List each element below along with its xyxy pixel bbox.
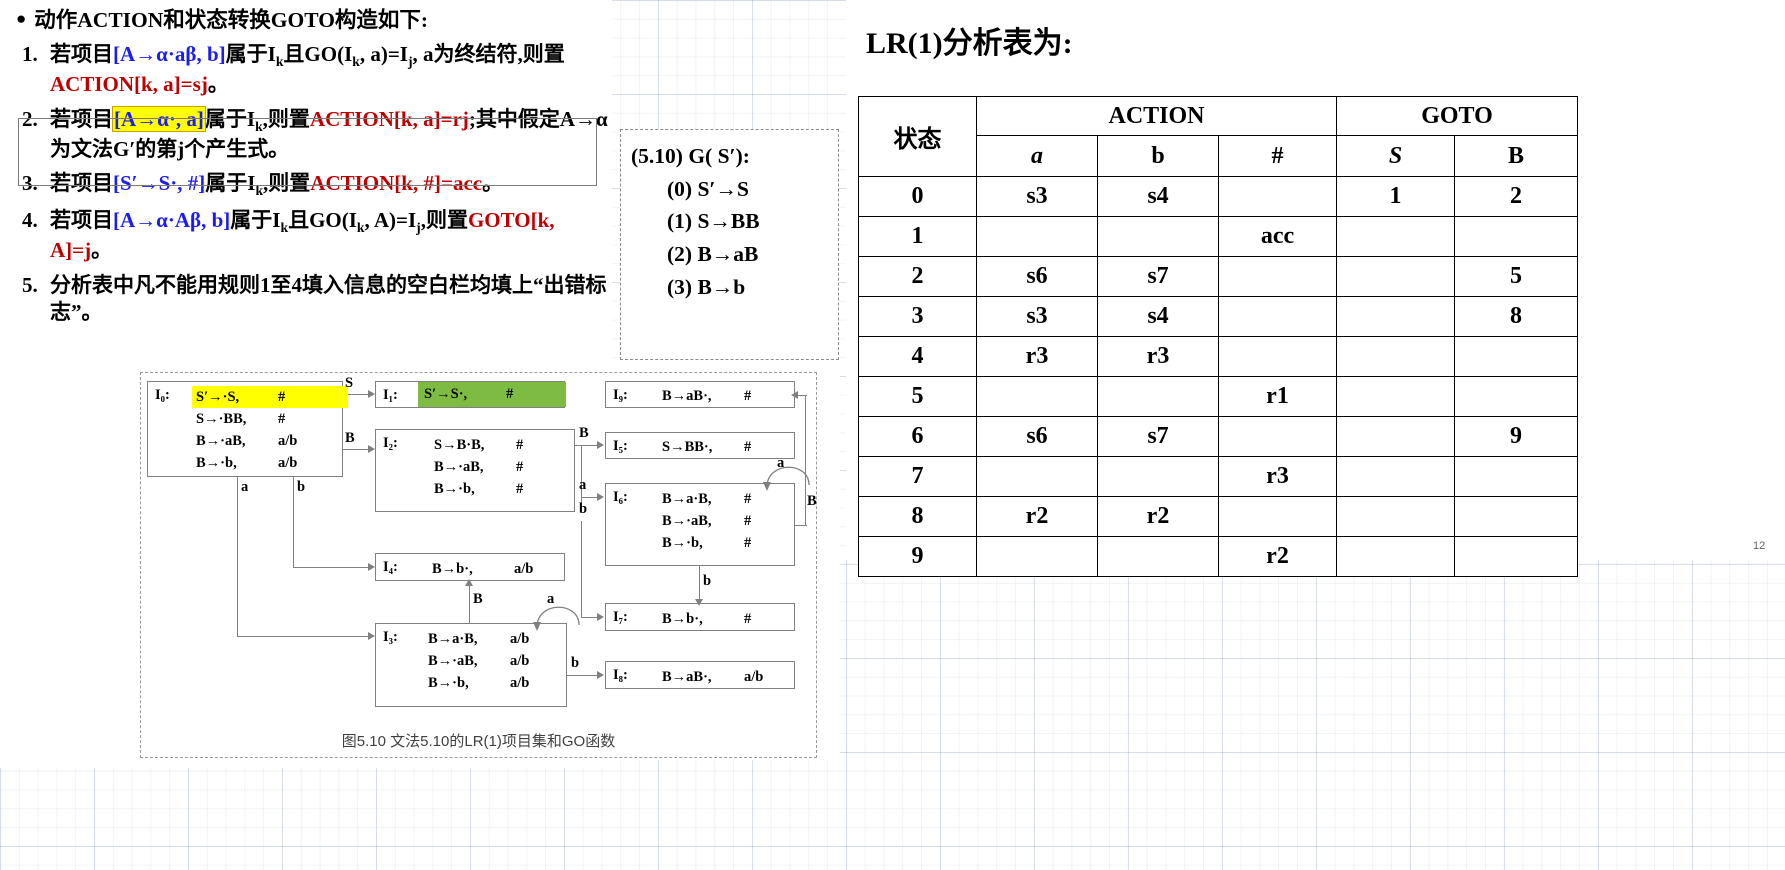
item-production: B→a·B,: [428, 628, 510, 650]
rule-text-fragment: 且GO(I: [283, 42, 352, 66]
cell-goto-B: [1455, 497, 1578, 537]
cell-action-a: s6: [977, 417, 1098, 457]
rule-text-fragment: , A)=I: [365, 208, 417, 232]
edge-line: [699, 566, 700, 603]
item-production: B→·b,: [434, 478, 516, 500]
item-production: B→aB·,: [662, 666, 744, 688]
item-production: B→·b,: [662, 532, 744, 554]
itemset-I5: I₅: S→BB·, #: [605, 432, 795, 459]
lr1-table-title: LR(1)分析表为:: [866, 18, 1073, 62]
cell-state: 1: [859, 217, 977, 257]
cell-action-hash: [1219, 177, 1337, 217]
table-row: 5r1: [859, 377, 1578, 417]
cell-action-hash: [1219, 337, 1337, 377]
edge-label-B-I6-I9: B: [807, 493, 817, 510]
cell-action-a: r3: [977, 337, 1098, 377]
item-lookahead: #: [278, 386, 320, 408]
header-action-group: ACTION: [977, 97, 1337, 136]
rule-text-fragment: [A→α·aβ, b]: [113, 42, 226, 66]
cell-goto-S: [1337, 377, 1455, 417]
header-goto-S: S: [1337, 136, 1455, 177]
rule-item-5: 5.分析表中凡不能用规则1至4填入信息的空白栏均填上“出错标志”。: [14, 272, 614, 327]
itemset-I9-rows: B→aB·, #: [662, 382, 794, 407]
table-row: 0s3s412: [859, 177, 1578, 217]
rule-number: 5.: [22, 272, 38, 300]
rule-text-fragment: 且GO(I: [288, 208, 357, 232]
cell-action-hash: [1219, 257, 1337, 297]
itemset-I1-label: I₁:: [383, 387, 398, 404]
lr1-parsing-table-wrapper: 状态 ACTION GOTO a b # S B 0s3s4121acc2s6s…: [858, 96, 1578, 577]
edge-label-b-I3-I4: B: [473, 591, 483, 608]
edge-arrow: [695, 599, 703, 606]
lr1-itemset-diagram: I₀: S′→·S, # S→·BB, # B→·aB, a/b B→·b, a…: [140, 372, 817, 758]
cell-goto-B: 5: [1455, 257, 1578, 297]
cell-goto-S: [1337, 457, 1455, 497]
cell-action-hash: [1219, 497, 1337, 537]
edge-label-a-I6-I6: a: [777, 455, 784, 472]
cell-action-b: s7: [1098, 417, 1219, 457]
itemset-I4: I₄: B→b·, a/b: [375, 553, 565, 581]
itemset-I5-label: I₅:: [613, 438, 628, 455]
edge-arrow: [368, 632, 375, 640]
cell-action-b: [1098, 537, 1219, 577]
cell-goto-S: [1337, 417, 1455, 457]
cell-state: 2: [859, 257, 977, 297]
itemset-I7: I₇: B→b·, #: [605, 603, 795, 631]
item-production: B→b·,: [432, 558, 514, 580]
itemset-I8-rows: B→aB·, a/b: [662, 662, 794, 688]
itemset-I2-label: I₂:: [383, 435, 398, 452]
item-row: B→·b, #: [662, 532, 794, 554]
cell-action-b: s7: [1098, 257, 1219, 297]
itemset-I6-label: I₆:: [613, 489, 628, 506]
edge-line: [469, 585, 470, 623]
cell-action-a: [977, 457, 1098, 497]
grammar-production-1: (1) S→BB: [621, 205, 838, 238]
edge-label-a-I2-I6: a: [579, 477, 586, 494]
rule-2-highlight-box: [18, 118, 597, 186]
lead-bullet: ● 动作ACTION和状态转换GOTO构造如下:: [14, 6, 614, 35]
cell-action-a: [977, 217, 1098, 257]
edge-arrow: [368, 390, 375, 398]
rule-text-fragment: ,则置: [421, 208, 468, 232]
item-lookahead: #: [744, 385, 786, 407]
bullet-dot-icon: ●: [16, 6, 26, 32]
item-production: B→b·,: [662, 608, 744, 630]
item-lookahead: #: [516, 456, 558, 478]
item-row: B→·aB, #: [662, 510, 794, 532]
header-goto-B: B: [1455, 136, 1578, 177]
edge-arrow: [368, 445, 375, 453]
grammar-production-3: (3) B→b: [621, 271, 838, 304]
cell-action-hash: r3: [1219, 457, 1337, 497]
rule-text-fragment: k: [280, 220, 288, 235]
edge-arrow: [597, 441, 604, 449]
item-row: S→B·B, #: [434, 434, 574, 456]
grammar-production-0: (0) S′→S: [621, 173, 838, 206]
item-row: B→b·, #: [662, 608, 794, 630]
item-lookahead: a/b: [514, 558, 556, 580]
item-lookahead: #: [278, 408, 320, 430]
item-row: S→·BB, #: [196, 408, 342, 430]
item-row: B→·aB, a/b: [428, 650, 566, 672]
item-row: B→aB·, #: [662, 385, 794, 407]
table-row: 4r3r3: [859, 337, 1578, 377]
item-lookahead: a/b: [278, 452, 320, 474]
edge-line: [795, 525, 807, 526]
cell-action-a: s6: [977, 257, 1098, 297]
cell-goto-B: 2: [1455, 177, 1578, 217]
item-row: B→aB·, a/b: [662, 666, 794, 688]
cell-goto-S: [1337, 497, 1455, 537]
edge-label-b-I0-I4: b: [297, 479, 305, 496]
edge-label-a-I0-I3: a: [241, 479, 248, 496]
grammar-title: (5.10) G( S′):: [621, 140, 838, 173]
cell-action-a: [977, 377, 1098, 417]
rule-text-fragment: 属于I: [230, 208, 280, 232]
cell-goto-B: [1455, 377, 1578, 417]
item-row: B→·b, a/b: [196, 452, 342, 474]
item-lookahead: a/b: [510, 672, 552, 694]
edge-arrow: [597, 613, 604, 621]
itemset-I2: I₂: S→B·B, # B→·aB, # B→·b, #: [375, 429, 575, 512]
table-row: 3s3s48: [859, 297, 1578, 337]
rule-item-4: 4.若项目[A→α·Aβ, b]属于Ik且GO(Ik, A)=Ij,则置GOTO…: [14, 207, 614, 265]
edge-label-S-I0-I1: S: [345, 375, 353, 392]
cell-state: 9: [859, 537, 977, 577]
item-row: B→·aB, a/b: [196, 430, 342, 452]
edge-line: [343, 449, 371, 450]
grammar-production-2: (2) B→aB: [621, 238, 838, 271]
item-lookahead: #: [516, 434, 558, 456]
item-lookahead: #: [744, 608, 786, 630]
item-production: B→·aB,: [662, 510, 744, 532]
itemset-I0-label: I₀:: [155, 387, 170, 404]
cell-goto-B: 9: [1455, 417, 1578, 457]
table-row: 6s6s79: [859, 417, 1578, 457]
rule-text-fragment: [A→α·Aβ, b]: [113, 208, 230, 232]
edge-label-B-I3-I8: b: [571, 655, 579, 672]
cell-goto-S: [1337, 297, 1455, 337]
figure-caption: 图5.10 文法5.10的LR(1)项目集和GO函数: [141, 730, 816, 751]
cell-goto-B: [1455, 337, 1578, 377]
item-production: B→·b,: [428, 672, 510, 694]
edge-arrow: [597, 493, 604, 501]
item-production: B→·aB,: [428, 650, 510, 672]
table-row: 8r2r2: [859, 497, 1578, 537]
edge-line: [237, 636, 371, 637]
item-row: B→b·, a/b: [432, 558, 564, 580]
rule-text-fragment: 分析表中凡不能用规则1至4填入信息的空白栏均填上“出错标志”。: [50, 273, 607, 325]
edge-label-B-I0-I2: B: [345, 430, 355, 447]
item-production: B→a·B,: [662, 488, 744, 510]
cell-action-b: [1098, 457, 1219, 497]
itemset-I8: I₈: B→aB·, a/b: [605, 661, 795, 689]
cell-action-hash: [1219, 297, 1337, 337]
edge-label-a-I3-I3: a: [547, 591, 554, 608]
cell-action-hash: [1219, 417, 1337, 457]
itemset-I1: I₁: S′→S·, #: [375, 381, 565, 408]
table-group-header-row: 状态 ACTION GOTO: [859, 97, 1578, 136]
edge-arrow: [368, 563, 375, 571]
table-row: 2s6s75: [859, 257, 1578, 297]
cell-state: 7: [859, 457, 977, 497]
cell-action-b: s4: [1098, 177, 1219, 217]
cell-action-b: [1098, 217, 1219, 257]
item-production: B→·aB,: [434, 456, 516, 478]
header-action-b: b: [1098, 136, 1219, 177]
rule-text-fragment: 属于I: [226, 42, 276, 66]
cell-action-a: s3: [977, 297, 1098, 337]
table-head: 状态 ACTION GOTO a b # S B: [859, 97, 1578, 177]
rule-text-fragment: k: [357, 220, 365, 235]
header-action-a: a: [977, 136, 1098, 177]
item-production: B→·aB,: [196, 430, 278, 452]
header-goto-group: GOTO: [1337, 97, 1578, 136]
itemset-I5-rows: S→BB·, #: [662, 433, 794, 458]
cell-state: 0: [859, 177, 977, 217]
itemset-I3-label: I₃:: [383, 629, 398, 646]
item-lookahead: a/b: [510, 650, 552, 672]
itemset-I9-label: I₉:: [613, 387, 628, 404]
rule-text-fragment: 若项目: [50, 42, 113, 66]
cell-goto-B: 8: [1455, 297, 1578, 337]
itemset-I1-rows: S′→S·, #: [376, 382, 564, 407]
cell-state: 4: [859, 337, 977, 377]
rule-text-fragment: 若项目: [50, 208, 113, 232]
cell-goto-S: 1: [1337, 177, 1455, 217]
page-number: 12: [1753, 540, 1765, 552]
item-production: S′→·S,: [196, 386, 278, 408]
item-production: B→aB·,: [662, 385, 744, 407]
itemset-I9: I₉: B→aB·, #: [605, 381, 795, 408]
table-body: 0s3s4121acc2s6s753s3s484r3r35r16s6s797r3…: [859, 177, 1578, 577]
cell-action-hash: r2: [1219, 537, 1337, 577]
cell-goto-S: [1337, 257, 1455, 297]
cell-action-a: s3: [977, 177, 1098, 217]
itemset-I7-rows: B→b·, #: [662, 604, 794, 630]
edge-label-B-I2-I5: B: [579, 425, 589, 442]
itemset-I8-label: I₈:: [613, 667, 628, 684]
cell-state: 5: [859, 377, 977, 417]
edge-line: [293, 499, 294, 567]
item-lookahead: #: [516, 478, 558, 500]
rule-number: 1.: [22, 41, 38, 69]
item-lookahead: #: [744, 532, 786, 554]
item-production: B→·b,: [196, 452, 278, 474]
item-production: S′→S·,: [424, 383, 506, 405]
cell-goto-B: [1455, 457, 1578, 497]
rule-number: 4.: [22, 207, 38, 235]
item-production: S→·BB,: [196, 408, 278, 430]
cell-action-hash: acc: [1219, 217, 1337, 257]
edge-label-b-I6-I7: b: [703, 573, 711, 590]
cell-state: 8: [859, 497, 977, 537]
itemset-I4-rows: B→b·, a/b: [432, 554, 564, 580]
edge-arrow: [791, 391, 798, 399]
grammar-5-10-box: (5.10) G( S′): (0) S′→S (1) S→BB (2) B→a…: [620, 129, 839, 360]
table-row: 1acc: [859, 217, 1578, 257]
table-row: 9r2: [859, 537, 1578, 577]
edge-arrow: [465, 579, 473, 586]
lead-bullet-text: 动作ACTION和状态转换GOTO构造如下:: [34, 6, 428, 35]
item-row: B→·b, a/b: [428, 672, 566, 694]
item-row: S′→·S, #: [192, 386, 348, 408]
edge-line: [237, 477, 238, 499]
item-row: B→·b, #: [434, 478, 574, 500]
edge-line: [293, 477, 294, 499]
item-row: S′→S·, #: [418, 382, 566, 407]
rule-text-fragment: k: [352, 54, 360, 69]
itemset-I0-rows: S′→·S, # S→·BB, # B→·aB, a/b B→·b, a/b: [196, 382, 342, 474]
cell-action-a: r2: [977, 497, 1098, 537]
edge-arrow: [597, 671, 604, 679]
itemset-I4-label: I₄:: [383, 559, 398, 576]
cell-action-a: [977, 537, 1098, 577]
cell-goto-B: [1455, 217, 1578, 257]
item-lookahead: #: [744, 510, 786, 532]
cell-action-b: r2: [1098, 497, 1219, 537]
item-production: S→B·B,: [434, 434, 516, 456]
itemset-I0: I₀: S′→·S, # S→·BB, # B→·aB, a/b B→·b, a…: [147, 381, 343, 477]
rule-item-1: 1.若项目[A→α·aβ, b]属于Ik且GO(Ik, a)=Ij, a为终结符…: [14, 41, 614, 99]
header-action-hash: #: [1219, 136, 1337, 177]
cell-action-b: s4: [1098, 297, 1219, 337]
cell-action-b: r3: [1098, 337, 1219, 377]
edge-self-loop-I3: [531, 595, 591, 641]
rule-text-fragment: , a为终结符,则置: [413, 42, 565, 66]
edge-line: [237, 499, 238, 636]
item-lookahead: a/b: [744, 666, 786, 688]
item-lookahead: #: [506, 383, 548, 405]
cell-goto-S: [1337, 337, 1455, 377]
rule-text-fragment: ACTION[k, a]=sj: [50, 72, 208, 96]
cell-state: 6: [859, 417, 977, 457]
edge-line: [567, 675, 601, 676]
lr1-parsing-table: 状态 ACTION GOTO a b # S B 0s3s4121acc2s6s…: [858, 96, 1578, 577]
header-state: 状态: [859, 97, 977, 177]
item-row: B→·aB, #: [434, 456, 574, 478]
rule-text-fragment: 。: [91, 238, 112, 262]
cell-goto-S: [1337, 217, 1455, 257]
edge-label-b-I2-I7: b: [579, 501, 587, 518]
cell-state: 3: [859, 297, 977, 337]
cell-action-b: [1098, 377, 1219, 417]
itemset-I2-rows: S→B·B, # B→·aB, # B→·b, #: [434, 430, 574, 500]
cell-goto-B: [1455, 537, 1578, 577]
itemset-I7-label: I₇:: [613, 609, 628, 626]
cell-action-hash: r1: [1219, 377, 1337, 417]
item-production: S→BB·,: [662, 436, 744, 458]
cell-goto-S: [1337, 537, 1455, 577]
item-row: S→BB·, #: [662, 436, 794, 458]
edge-line: [293, 567, 371, 568]
rule-text-fragment: , a)=I: [360, 42, 408, 66]
item-lookahead: a/b: [278, 430, 320, 452]
table-row: 7r3: [859, 457, 1578, 497]
rule-text-fragment: 。: [208, 72, 229, 96]
